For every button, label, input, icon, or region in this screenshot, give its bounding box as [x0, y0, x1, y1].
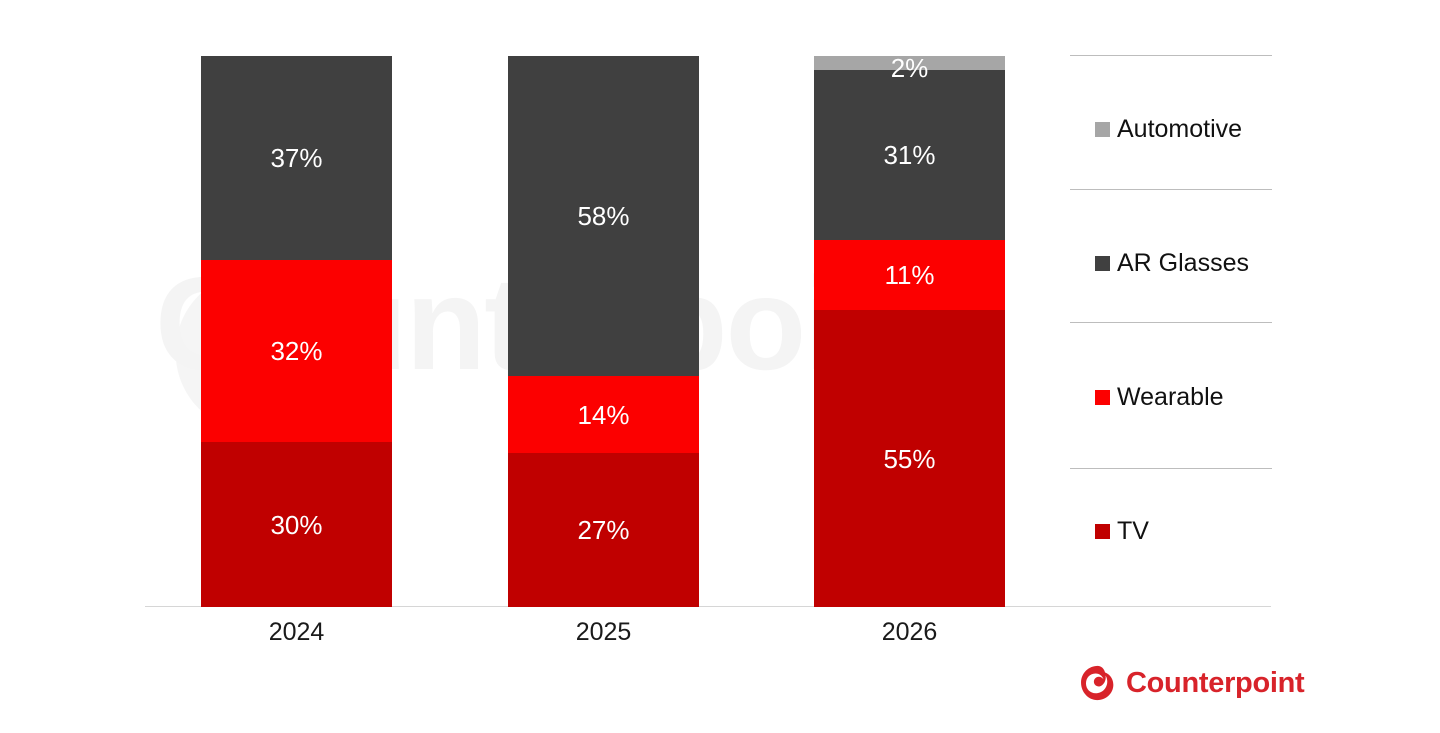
bar-segment-label: 32%: [270, 338, 322, 364]
bar-segment-wearable[interactable]: 14%: [508, 376, 699, 453]
counterpoint-c-icon: [1078, 664, 1116, 702]
bar-segment-tv[interactable]: 27%: [508, 453, 699, 607]
legend-separator: [1070, 55, 1272, 56]
legend-item-tv[interactable]: TV: [1095, 519, 1149, 544]
legend-item-label: AR Glasses: [1117, 251, 1249, 276]
legend-separator: [1070, 189, 1272, 190]
bar-segment-ar-glasses[interactable]: 31%: [814, 70, 1005, 240]
legend-separator: [1070, 322, 1272, 323]
legend-item-automotive[interactable]: Automotive: [1095, 117, 1242, 142]
x-axis-tick-2026: 2026: [814, 618, 1005, 647]
plot-area: 37% 32% 30% 2024 58% 14% 27% 2025: [0, 0, 1440, 733]
x-axis-tick-2025: 2025: [508, 618, 699, 647]
legend-separator: [1070, 468, 1272, 469]
bar-2026[interactable]: 31% 11% 55% 2%: [814, 56, 1005, 607]
bar-segment-ar-glasses[interactable]: 58%: [508, 56, 699, 376]
bar-segment-label: 2%: [891, 55, 929, 81]
bar-segment-tv[interactable]: 30%: [201, 442, 392, 607]
bar-segment-label: 14%: [577, 402, 629, 428]
bar-segment-wearable[interactable]: 11%: [814, 240, 1005, 310]
bar-segment-wearable[interactable]: 32%: [201, 260, 392, 442]
legend-item-label: Wearable: [1117, 385, 1224, 410]
bar-segment-label: 27%: [577, 517, 629, 543]
bar-segment-label: 58%: [577, 203, 629, 229]
bar-segment-label: 30%: [270, 512, 322, 538]
brand-name: Counterpoint: [1126, 669, 1304, 698]
legend-swatch-icon: [1095, 390, 1110, 405]
bar-segment-label: 31%: [883, 142, 935, 168]
bar-segment-tv[interactable]: 55%: [814, 310, 1005, 607]
bar-segment-label: 55%: [883, 446, 935, 472]
legend-item-ar-glasses[interactable]: AR Glasses: [1095, 251, 1249, 276]
bar-segment-label: 37%: [270, 145, 322, 171]
legend-item-label: Automotive: [1117, 117, 1242, 142]
bar-segment-ar-glasses[interactable]: 37%: [201, 56, 392, 260]
x-axis-tick-2024: 2024: [201, 618, 392, 647]
bar-2025[interactable]: 58% 14% 27%: [508, 56, 699, 607]
brand-logo: Counterpoint: [1078, 664, 1304, 702]
legend-swatch-icon: [1095, 122, 1110, 137]
legend-item-wearable[interactable]: Wearable: [1095, 385, 1224, 410]
bar-segment-label: 11%: [884, 262, 934, 288]
chart-container: Counterpoint 37% 32% 30% 2024 58% 14%: [0, 0, 1440, 733]
bar-segment-label-automotive-wrapper: 2%: [814, 52, 1005, 84]
legend-swatch-icon: [1095, 256, 1110, 271]
legend-item-label: TV: [1117, 519, 1149, 544]
bar-2024[interactable]: 37% 32% 30%: [201, 56, 392, 607]
legend-swatch-icon: [1095, 524, 1110, 539]
